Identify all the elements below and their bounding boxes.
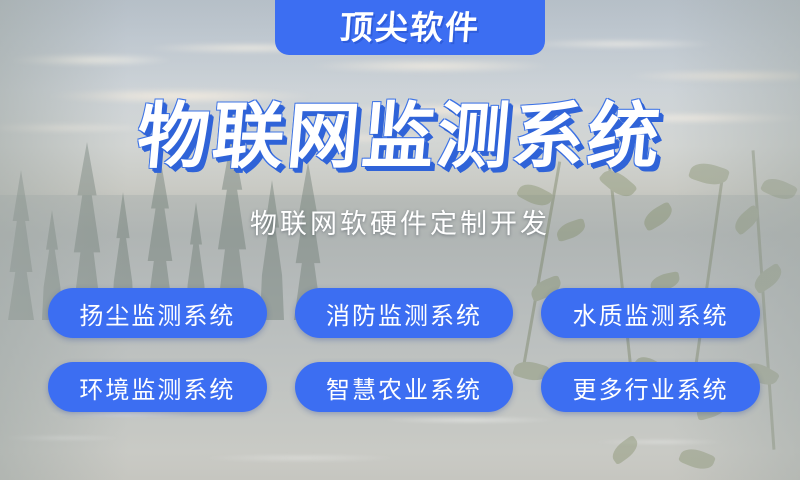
service-pill-environment-monitoring[interactable]: 环境监测系统 (48, 362, 267, 412)
brand-badge-label: 顶尖软件 (339, 11, 481, 44)
service-pill-dust-monitoring[interactable]: 扬尘监测系统 (48, 288, 267, 338)
banner-content: 顶尖软件 物联网监测系统 物联网软硬件定制开发 扬尘监测系统 消防监测系统 水质… (0, 0, 800, 480)
service-pill-more-industries[interactable]: 更多行业系统 (541, 362, 760, 412)
brand-badge[interactable]: 顶尖软件 (275, 0, 545, 55)
page-title: 物联网监测系统 (0, 95, 800, 177)
service-pill-fire-monitoring[interactable]: 消防监测系统 (295, 288, 514, 338)
page-subtitle: 物联网软硬件定制开发 (0, 207, 800, 243)
service-pill-water-quality-monitoring[interactable]: 水质监测系统 (541, 288, 760, 338)
hero-banner: 顶尖软件 物联网监测系统 物联网软硬件定制开发 扬尘监测系统 消防监测系统 水质… (0, 0, 800, 480)
service-pill-row: 扬尘监测系统 消防监测系统 水质监测系统 (48, 288, 760, 338)
service-pill-row: 环境监测系统 智慧农业系统 更多行业系统 (48, 362, 760, 412)
service-pill-grid: 扬尘监测系统 消防监测系统 水质监测系统 环境监测系统 智慧农业系统 更多行业系… (48, 288, 760, 436)
service-pill-smart-agriculture[interactable]: 智慧农业系统 (295, 362, 514, 412)
